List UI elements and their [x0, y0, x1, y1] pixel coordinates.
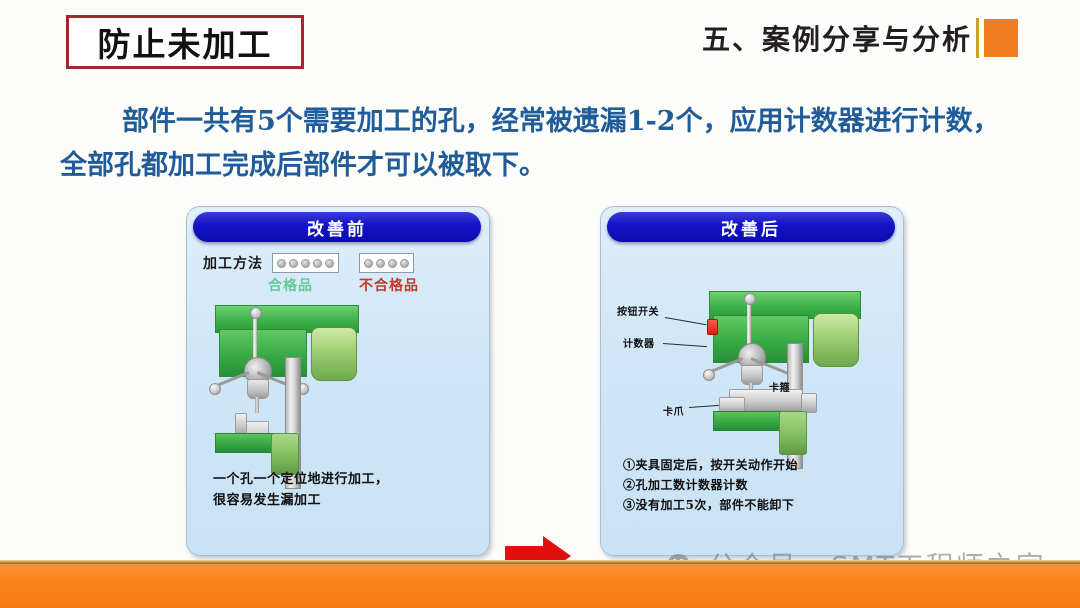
panel-after: 改善后 按钮开关 计数器 卡箍 — [600, 206, 904, 556]
leader-line-switch — [665, 317, 707, 325]
page-title: 防止未加工 — [98, 18, 273, 66]
panel-before-note-line1: 一个孔一个定位地进行加工， — [213, 469, 389, 490]
button-switch[interactable] — [707, 319, 718, 335]
callout-clamp: 卡箍 — [769, 379, 790, 394]
drill-chuck — [741, 365, 763, 385]
slide-header: 防止未加工 五、案例分享与分析 — [0, 0, 1080, 88]
drill-lever-knob — [209, 383, 221, 395]
drill-bit — [255, 397, 259, 413]
callout-button-switch: 按钮开关 — [617, 303, 659, 318]
drill-motor — [813, 313, 859, 367]
leader-line-jaw — [689, 405, 719, 408]
drill-lever-knob — [703, 369, 715, 381]
panel-before-note: 一个孔一个定位地进行加工， 很容易发生漏加工 — [213, 469, 389, 511]
comparison-diagram: 改善前 加工方法 合格品 不合格品 — [0, 198, 1080, 568]
leader-line-counter — [663, 343, 707, 347]
callout-jaw: 卡爪 — [663, 403, 684, 418]
panel-after-note-line1: ①夹具固定后，按开关动作开始 — [623, 455, 798, 475]
drill-rod-knob — [250, 307, 262, 319]
page-title-badge: 防止未加工 — [66, 15, 304, 69]
panel-after-note-line2: ②孔加工数计数器计数 — [623, 475, 798, 495]
panel-after-note: ①夹具固定后，按开关动作开始 ②孔加工数计数器计数 ③没有加工5次，部件不能卸下 — [623, 455, 798, 515]
drill-rod-knob — [744, 293, 756, 305]
panel-after-note-line3: ③没有加工5次，部件不能卸下 — [623, 495, 798, 515]
drill-base — [779, 411, 807, 455]
callout-counter: 计数器 — [623, 335, 655, 350]
footer-bar — [0, 564, 1080, 608]
work-fixture — [235, 413, 247, 435]
section-label-text: 五、案例分享与分析 — [702, 18, 972, 58]
drill-chuck — [247, 379, 269, 399]
section-accent-square — [984, 19, 1018, 57]
body-paragraph: 部件一共有5个需要加工的孔，经常被遗漏1-2个，应用计数器进行计数，全部孔都加工… — [60, 100, 1020, 188]
section-divider-rule — [976, 18, 979, 58]
panel-before: 改善前 加工方法 合格品 不合格品 — [186, 206, 490, 556]
counter-unit — [801, 393, 817, 413]
drill-motor — [311, 327, 357, 381]
section-label: 五、案例分享与分析 — [702, 18, 1018, 58]
panel-before-note-line2: 很容易发生漏加工 — [213, 490, 389, 511]
